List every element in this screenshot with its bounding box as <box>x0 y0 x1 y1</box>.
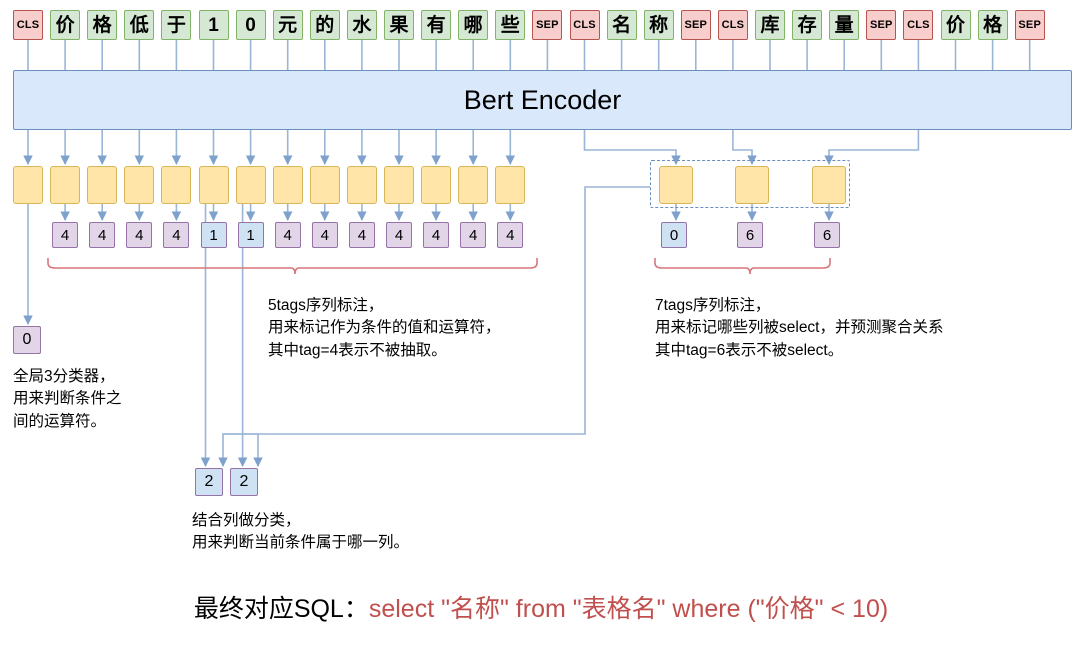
diagram-canvas: Bert Encoder CLS价格低于10元的水果有哪些SEPCLS名称SEP… <box>0 0 1082 647</box>
question-tag-12: 4 <box>497 222 523 248</box>
token-box-15: CLS <box>570 10 600 40</box>
token-box-11: 有 <box>421 10 451 40</box>
token-label-9: 水 <box>352 16 371 35</box>
token-label-21: 存 <box>798 16 817 35</box>
question-tag-7: 4 <box>312 222 338 248</box>
note-column-match: 结合列做分类， 用来判断当前条件属于哪一列。 <box>192 510 592 555</box>
token-box-7: 元 <box>273 10 303 40</box>
hidden-state-box-1 <box>50 166 80 204</box>
final-sql-line: 最终对应SQL：select "名称" from "表格名" where ("价… <box>0 594 1082 624</box>
column-tag-value-1: 6 <box>746 227 754 244</box>
token-label-8: 的 <box>315 16 334 35</box>
column-hidden-state-box-0 <box>659 166 693 204</box>
token-box-19: CLS <box>718 10 748 40</box>
final-sql-text: select "名称" from "表格名" where ("价格" < 10) <box>369 595 888 623</box>
column-match-value-1: 2 <box>240 473 249 491</box>
column-tag-1: 6 <box>737 222 763 248</box>
token-label-19: CLS <box>722 20 745 31</box>
token-box-10: 果 <box>384 10 414 40</box>
token-label-17: 称 <box>649 16 668 35</box>
question-tag-8: 4 <box>349 222 375 248</box>
hidden-state-box-10 <box>384 166 414 204</box>
token-label-1: 价 <box>56 16 75 35</box>
token-box-24: CLS <box>903 10 933 40</box>
question-tag-value-11: 4 <box>469 227 477 244</box>
token-label-10: 果 <box>389 16 408 35</box>
final-sql-label: 最终对应SQL： <box>194 595 369 623</box>
question-tag-0: 4 <box>52 222 78 248</box>
hidden-state-box-8 <box>310 166 340 204</box>
question-tag-value-3: 4 <box>172 227 180 244</box>
question-tag-value-12: 4 <box>506 227 514 244</box>
question-tag-value-9: 4 <box>395 227 403 244</box>
question-tag-10: 4 <box>423 222 449 248</box>
global-classifier-value: 0 <box>23 331 32 349</box>
token-box-5: 1 <box>199 10 229 40</box>
bert-encoder-block: Bert Encoder <box>13 70 1072 130</box>
token-label-23: SEP <box>870 20 893 31</box>
token-box-26: 格 <box>978 10 1008 40</box>
token-box-14: SEP <box>532 10 562 40</box>
question-tag-11: 4 <box>460 222 486 248</box>
column-tag-2: 6 <box>814 222 840 248</box>
note-global-classifier: 全局3分类器， 用来判断条件之 间的运算符。 <box>13 366 203 433</box>
token-label-12: 哪 <box>464 16 483 35</box>
question-tag-value-1: 4 <box>98 227 106 244</box>
token-label-25: 价 <box>946 16 965 35</box>
question-tag-6: 4 <box>275 222 301 248</box>
token-box-25: 价 <box>941 10 971 40</box>
bert-encoder-label: Bert Encoder <box>464 85 622 116</box>
token-box-22: 量 <box>829 10 859 40</box>
token-label-5: 1 <box>208 16 219 35</box>
token-label-16: 名 <box>612 16 631 35</box>
token-box-1: 价 <box>50 10 80 40</box>
column-tag-value-2: 6 <box>823 227 831 244</box>
token-box-17: 称 <box>644 10 674 40</box>
token-label-0: CLS <box>17 20 40 31</box>
hidden-state-box-11 <box>421 166 451 204</box>
token-label-11: 有 <box>427 16 446 35</box>
question-tag-4: 1 <box>201 222 227 248</box>
token-box-23: SEP <box>866 10 896 40</box>
column-match-tag-1: 2 <box>230 468 258 496</box>
question-tag-value-2: 4 <box>135 227 143 244</box>
token-label-22: 量 <box>835 16 854 35</box>
question-tag-2: 4 <box>126 222 152 248</box>
token-box-9: 水 <box>347 10 377 40</box>
hidden-state-box-0 <box>13 166 43 204</box>
token-label-20: 库 <box>760 16 779 35</box>
question-tag-3: 4 <box>163 222 189 248</box>
token-box-4: 于 <box>161 10 191 40</box>
token-box-8: 的 <box>310 10 340 40</box>
token-label-27: SEP <box>1018 20 1041 31</box>
token-box-21: 存 <box>792 10 822 40</box>
token-label-4: 于 <box>167 16 186 35</box>
note-seven-tags: 7tags序列标注， 用来标记哪些列被select，并预测聚合关系 其中tag=… <box>655 295 1082 362</box>
hidden-state-box-3 <box>124 166 154 204</box>
global-classifier-tag: 0 <box>13 326 41 354</box>
question-tag-1: 4 <box>89 222 115 248</box>
token-label-24: CLS <box>907 20 930 31</box>
question-tag-9: 4 <box>386 222 412 248</box>
column-tag-value-0: 0 <box>670 227 678 244</box>
note-five-tags: 5tags序列标注， 用来标记作为条件的值和运算符， 其中tag=4表示不被抽取… <box>268 295 568 362</box>
column-hidden-state-box-1 <box>735 166 769 204</box>
token-label-14: SEP <box>536 20 559 31</box>
question-tag-value-6: 4 <box>284 227 292 244</box>
question-tag-value-4: 1 <box>209 227 217 244</box>
token-label-2: 格 <box>93 16 112 35</box>
token-label-3: 低 <box>130 16 149 35</box>
hidden-state-box-9 <box>347 166 377 204</box>
hidden-state-box-5 <box>199 166 229 204</box>
token-box-20: 库 <box>755 10 785 40</box>
token-box-18: SEP <box>681 10 711 40</box>
hidden-state-box-6 <box>236 166 266 204</box>
column-match-tag-0: 2 <box>195 468 223 496</box>
hidden-state-box-13 <box>495 166 525 204</box>
question-tag-5: 1 <box>238 222 264 248</box>
token-box-12: 哪 <box>458 10 488 40</box>
token-box-0: CLS <box>13 10 43 40</box>
column-tag-0: 0 <box>661 222 687 248</box>
token-label-15: CLS <box>573 20 596 31</box>
question-tag-value-7: 4 <box>321 227 329 244</box>
token-box-27: SEP <box>1015 10 1045 40</box>
hidden-state-box-12 <box>458 166 488 204</box>
hidden-state-box-7 <box>273 166 303 204</box>
token-label-7: 元 <box>278 16 297 35</box>
question-tag-value-0: 4 <box>61 227 69 244</box>
token-box-13: 些 <box>495 10 525 40</box>
token-label-6: 0 <box>245 16 256 35</box>
token-box-3: 低 <box>124 10 154 40</box>
token-label-26: 格 <box>983 16 1002 35</box>
question-tag-value-5: 1 <box>246 227 254 244</box>
token-box-2: 格 <box>87 10 117 40</box>
token-label-18: SEP <box>684 20 707 31</box>
column-match-value-0: 2 <box>205 473 214 491</box>
token-box-6: 0 <box>236 10 266 40</box>
question-tag-value-10: 4 <box>432 227 440 244</box>
hidden-state-box-4 <box>161 166 191 204</box>
token-box-16: 名 <box>607 10 637 40</box>
token-label-13: 些 <box>501 16 520 35</box>
question-tag-value-8: 4 <box>358 227 366 244</box>
hidden-state-box-2 <box>87 166 117 204</box>
column-hidden-state-box-2 <box>812 166 846 204</box>
